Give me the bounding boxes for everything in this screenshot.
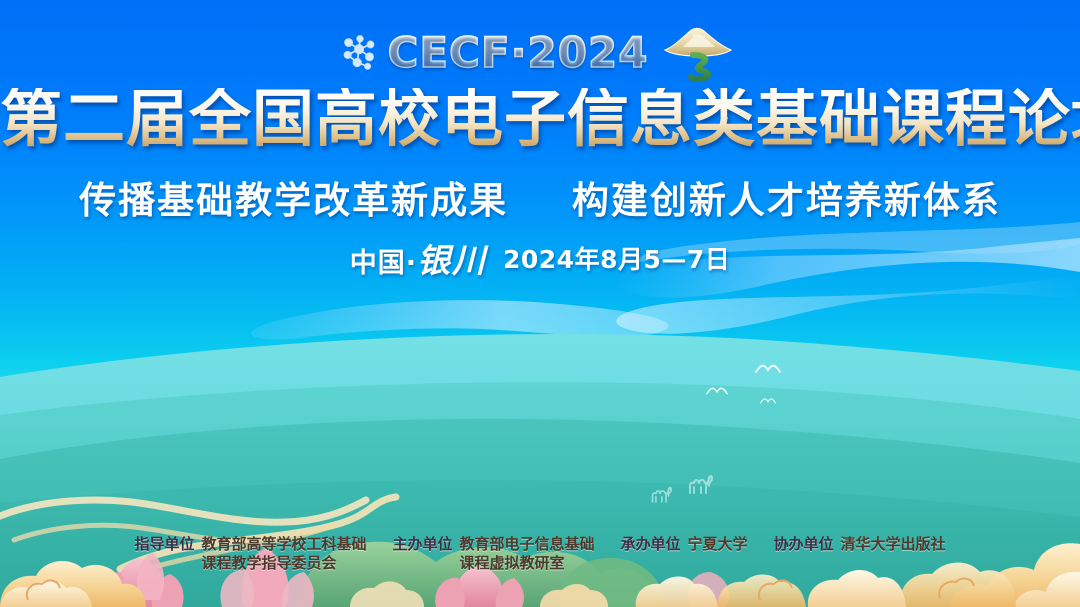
event-dates: 2024年8月5—7日: [503, 240, 730, 276]
credit-line: 清华大学出版社: [841, 535, 946, 554]
credit-label: 指导单位: [134, 535, 194, 554]
seagull-icon: [760, 397, 776, 405]
credit-line: 课程虚拟教研室: [459, 554, 594, 573]
organizer-credits: 指导单位 教育部高等学校工科基础 课程教学指导委员会 主办单位 教育部电子信息基…: [0, 535, 1080, 581]
credit-label: 协办单位: [774, 535, 834, 554]
location-separator: ·: [406, 248, 417, 279]
credit-value: 宁夏大学: [688, 535, 748, 554]
subtitle: 传播基础教学改革新成果 构建创新人才培养新体系: [0, 182, 1080, 219]
subtitle-right: 构建创新人才培养新体系: [572, 179, 1001, 222]
location: 中国·银川: [350, 234, 487, 282]
credit-label: 主办单位: [392, 535, 452, 554]
credit-value: 教育部电子信息基础 课程虚拟教研室: [459, 535, 594, 573]
city-label: 银川: [417, 241, 487, 280]
credit-item: 协办单位 清华大学出版社: [774, 535, 946, 554]
cecf-wordmark: CECF·2024: [386, 32, 651, 74]
credit-item: 主办单位 教育部电子信息基础 课程虚拟教研室: [392, 535, 594, 573]
credit-item: 指导单位 教育部高等学校工科基础 课程教学指导委员会: [134, 535, 366, 573]
credit-label: 承办单位: [621, 535, 681, 554]
credit-value: 清华大学出版社: [841, 535, 946, 554]
ningxia-mountain-river-emblem-icon: [659, 25, 739, 81]
conference-poster: CECF·2024 第二届全国高校电子信息类基础课程论坛 传播基础教学改革新成果…: [0, 0, 1080, 607]
logo-row: CECF·2024: [0, 22, 1080, 84]
credit-line: 教育部电子信息基础: [459, 535, 594, 554]
network-node-cluster-icon: [341, 34, 379, 72]
credit-line: 课程教学指导委员会: [201, 554, 366, 573]
page-title: 第二届全国高校电子信息类基础课程论坛: [0, 88, 1080, 150]
subtitle-left: 传播基础教学改革新成果: [79, 179, 508, 222]
credit-line: 教育部高等学校工科基础: [201, 535, 366, 554]
seagull-icon: [706, 386, 728, 396]
meta-row: 中国·银川 2024年8月5—7日: [0, 234, 1080, 282]
credit-value: 教育部高等学校工科基础 课程教学指导委员会: [201, 535, 366, 573]
seagull-icon: [755, 363, 781, 375]
credit-item: 承办单位 宁夏大学: [621, 535, 748, 554]
country-label: 中国: [350, 248, 406, 279]
credit-line: 宁夏大学: [688, 535, 748, 554]
